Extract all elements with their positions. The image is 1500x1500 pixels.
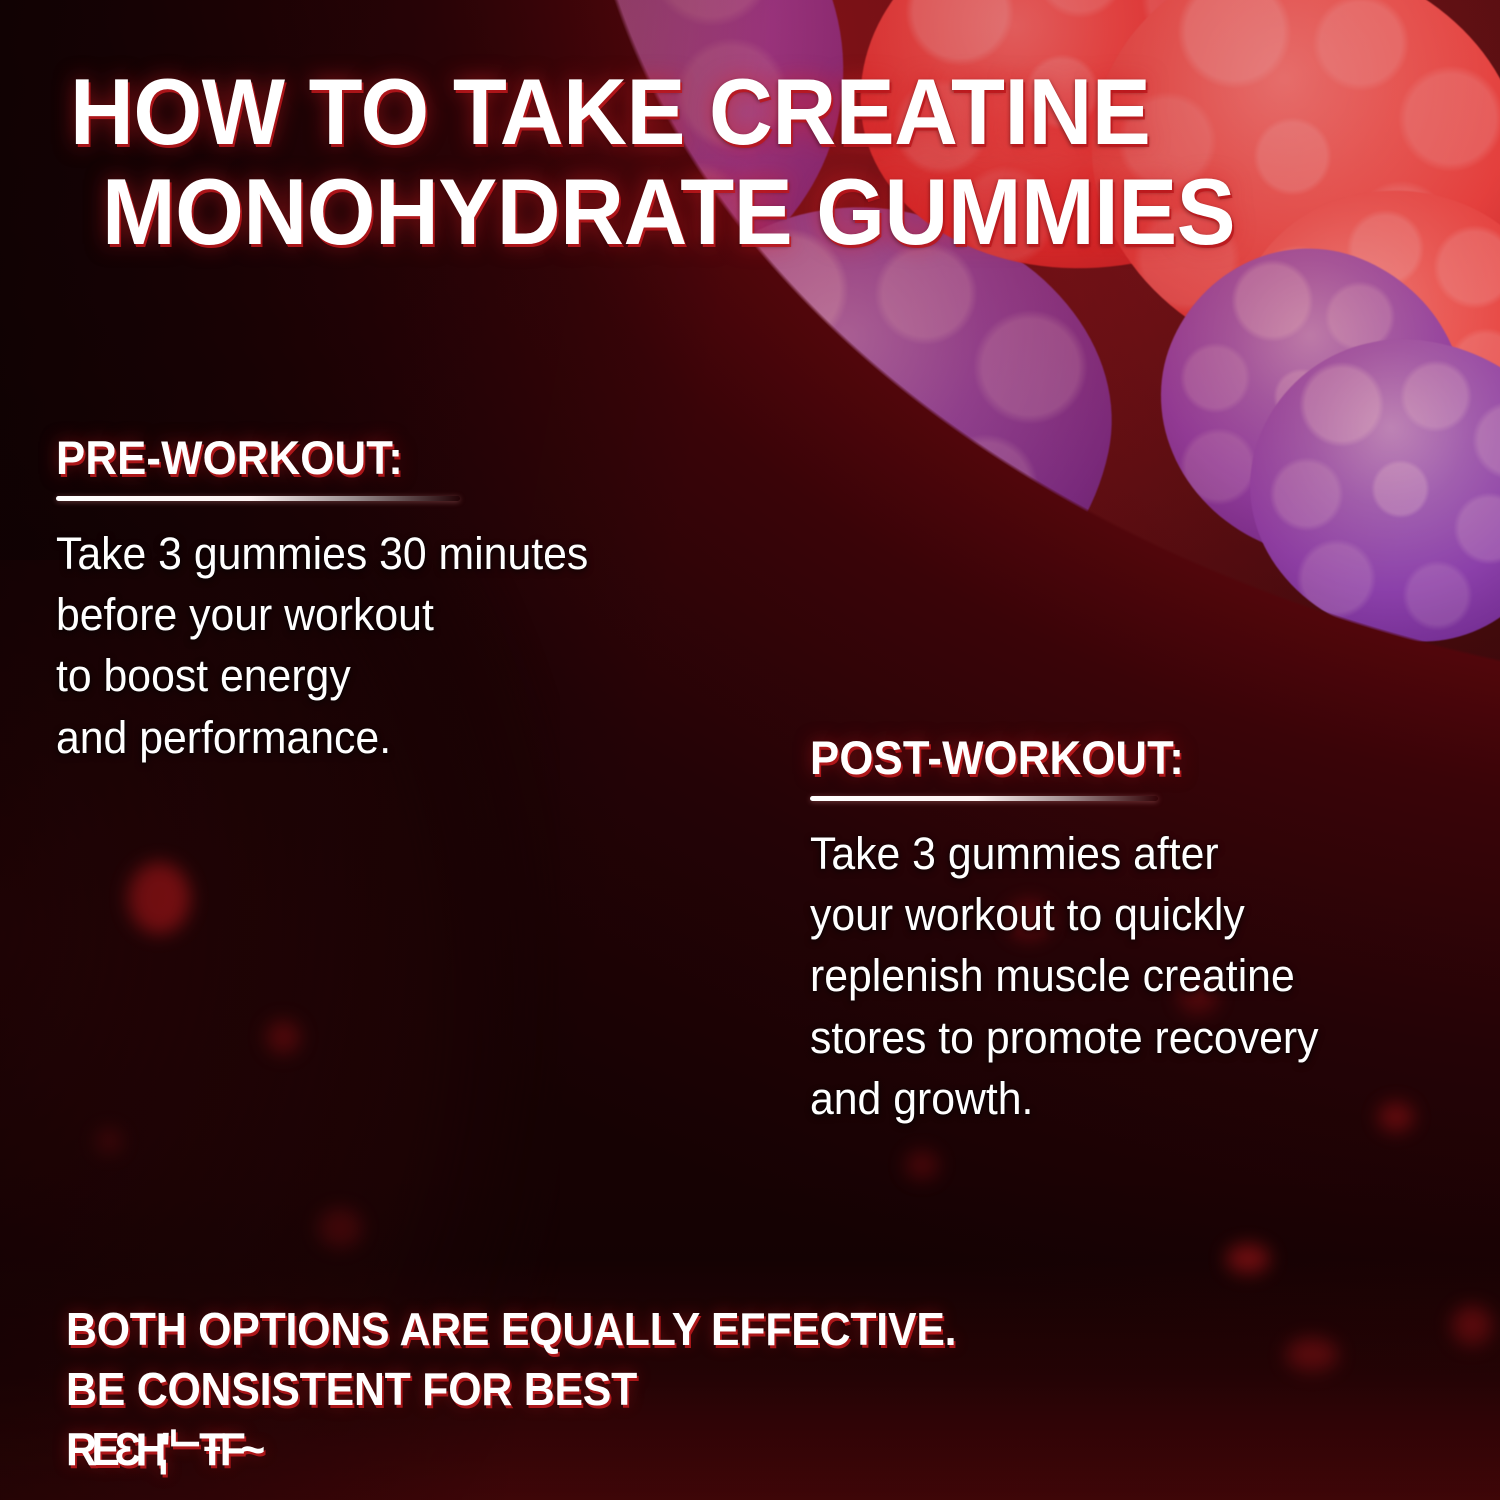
footer-line-2-garbled-word: REƐҢ'ᄂŦF~ xyxy=(66,1420,1368,1480)
heading-underline-rule xyxy=(810,796,1158,801)
section-post-workout: POST-WORKOUT: Take 3 gummies after your … xyxy=(810,730,1500,1129)
body-line: your workout to quickly xyxy=(810,884,1466,945)
body-line: and performance. xyxy=(56,707,740,768)
body-line: and growth. xyxy=(810,1068,1466,1129)
body-line: stores to promote recovery xyxy=(810,1007,1466,1068)
poster-canvas: HOW TO TAKE CREATINE MONOHYDRATE GUMMIES… xyxy=(0,0,1500,1500)
footer-line-2-prefix: BE CONSISTENT FOR BEST xyxy=(66,1360,1368,1420)
page-title: HOW TO TAKE CREATINE MONOHYDRATE GUMMIES xyxy=(70,62,1367,261)
footer-callout: BOTH OPTIONS ARE EQUALLY EFFECTIVE. BE C… xyxy=(66,1300,1368,1479)
section-heading-post-workout: POST-WORKOUT: xyxy=(810,730,1452,785)
section-body-pre-workout: Take 3 gummies 30 minutes before your wo… xyxy=(56,523,740,768)
section-body-post-workout: Take 3 gummies after your workout to qui… xyxy=(810,823,1466,1129)
body-line: Take 3 gummies after xyxy=(810,823,1466,884)
section-pre-workout: PRE-WORKOUT: Take 3 gummies 30 minutes b… xyxy=(56,430,776,768)
body-line: before your workout xyxy=(56,584,740,645)
heading-underline-rule xyxy=(56,496,460,501)
title-line-1: HOW TO TAKE CREATINE xyxy=(70,62,1367,162)
body-line: replenish muscle creatine xyxy=(810,945,1466,1006)
title-line-2: MONOHYDRATE GUMMIES xyxy=(70,162,1367,262)
footer-line-1: BOTH OPTIONS ARE EQUALLY EFFECTIVE. xyxy=(66,1300,1368,1360)
footer-line-2: BE CONSISTENT FOR BEST REƐҢ'ᄂŦF~ xyxy=(66,1360,1368,1480)
body-line: Take 3 gummies 30 minutes xyxy=(56,523,740,584)
body-line: to boost energy xyxy=(56,645,740,706)
section-heading-pre-workout: PRE-WORKOUT: xyxy=(56,430,726,485)
